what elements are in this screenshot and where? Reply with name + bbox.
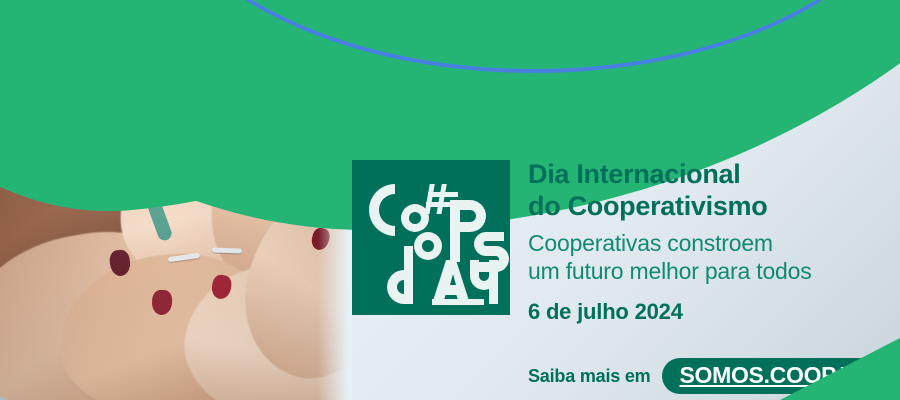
event-date: 6 de julho 2024 [528,299,894,325]
coopsday-logo-icon [352,160,510,315]
cta-label: Saiba mais em [528,366,650,387]
stacked-hands-photo [0,0,352,400]
subtitle: Cooperativas constroem um futuro melhor … [528,230,894,285]
banner-root: Dia Internacional do Cooperativismo Coop… [0,0,900,400]
page-title: Dia Internacional do Cooperativismo [528,158,894,222]
photo-vignette [0,0,352,400]
copy-block: Dia Internacional do Cooperativismo Coop… [528,158,894,325]
coopsday-logo [352,160,510,315]
green-corner-wedge [780,338,900,400]
photo-fade-edge [318,0,352,400]
